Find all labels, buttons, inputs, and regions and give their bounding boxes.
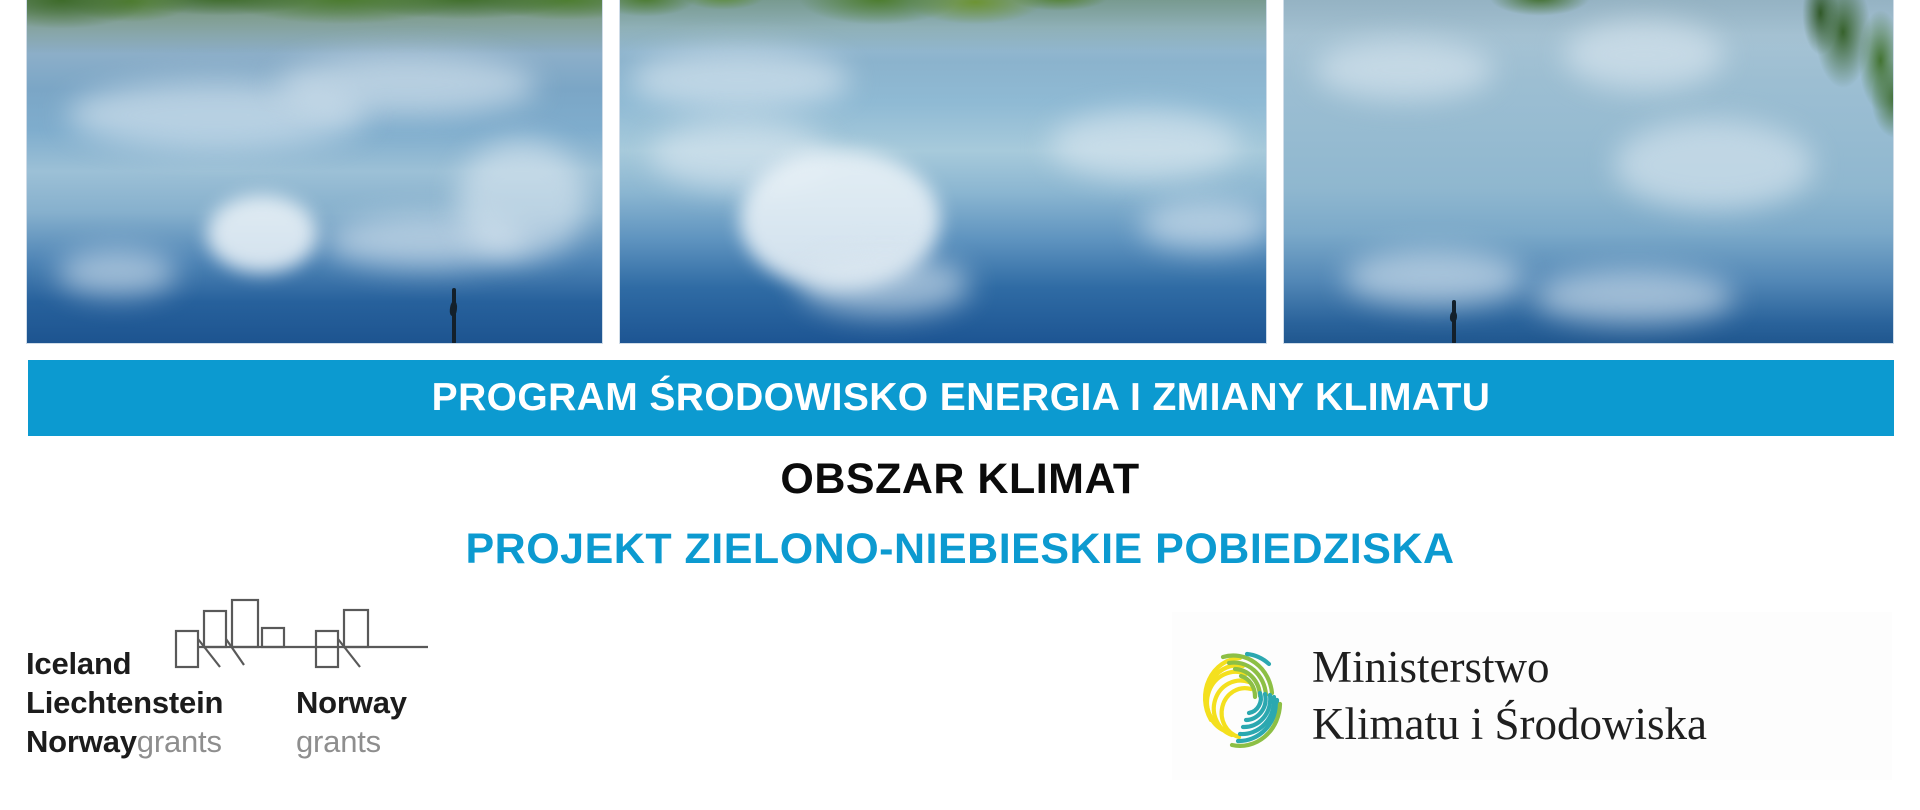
cloud-reflection — [1534, 270, 1734, 324]
grants-line-liechtenstein: Liechtenstein — [26, 683, 326, 722]
grass-reflection — [620, 0, 1265, 52]
norway-grants-grants-text: grants — [296, 724, 381, 759]
cloud-reflection — [1314, 40, 1494, 100]
grants-grants-text: grants — [137, 724, 222, 759]
program-banner: PROGRAM ŚRODOWISKO ENERGIA I ZMIANY KLIM… — [28, 360, 1894, 436]
cloud-reflection — [800, 255, 970, 315]
norway-grants-wordblock: Norway grants — [296, 683, 516, 761]
ministry-wordmark: Ministerstwo Klimatu i Środowiska — [1312, 639, 1707, 753]
norway-grants-line-grants: grants — [296, 722, 516, 761]
poster-page: PROGRAM ŚRODOWISKO ENERGIA I ZMIANY KLIM… — [0, 0, 1920, 810]
grass-reflection — [27, 0, 602, 54]
cloud-reflection — [630, 48, 850, 112]
ministry-spiral-icon — [1194, 638, 1290, 754]
cloud-reflection — [207, 195, 317, 273]
cloud-reflection — [277, 55, 537, 115]
footer-logos: Iceland Liechtenstein Norwaygrants Norwa… — [0, 590, 1920, 810]
grants-iceland-text: Iceland — [26, 646, 131, 681]
cloud-reflection — [457, 140, 587, 260]
ministerstwo-klimatu-i-srodowiska-logo: Ministerstwo Klimatu i Środowiska — [1172, 612, 1892, 780]
photo-pond-middle — [619, 0, 1266, 344]
cloud-reflection — [1614, 120, 1814, 210]
iceland-liechtenstein-norway-grants-logo: Iceland Liechtenstein Norwaygrants Norwa… — [26, 598, 526, 798]
cloud-reflection — [57, 250, 177, 296]
norway-grants-norway-text: Norway — [296, 685, 407, 720]
cloud-reflection — [1344, 250, 1524, 306]
grants-line-norway: Norwaygrants — [26, 722, 326, 761]
grants-liechtenstein-text: Liechtenstein — [26, 685, 223, 720]
project-title: PROJEKT ZIELONO-NIEBIESKIE POBIEDZISKA — [0, 518, 1920, 580]
grants-wordblock: Iceland Liechtenstein Norwaygrants — [26, 644, 326, 761]
area-title: OBSZAR KLIMAT — [0, 450, 1920, 508]
reed-silhouette — [452, 288, 456, 344]
cloud-reflection — [1140, 200, 1266, 250]
photo-pond-right — [1283, 0, 1894, 344]
grants-norway-text: Norway — [26, 724, 137, 759]
grants-line-iceland: Iceland — [26, 644, 326, 683]
cloud-reflection — [1050, 110, 1240, 180]
photo-strip — [26, 0, 1894, 344]
ministry-line-2: Klimatu i Środowiska — [1312, 696, 1707, 753]
ministry-line-1: Ministerstwo — [1312, 639, 1707, 696]
photo-pond-left — [26, 0, 603, 344]
cloud-reflection — [1564, 20, 1724, 90]
norway-grants-line-norway: Norway — [296, 683, 516, 722]
reed-silhouette — [1452, 300, 1456, 344]
heading-area: OBSZAR KLIMAT PROJEKT ZIELONO-NIEBIESKIE… — [0, 450, 1920, 580]
program-banner-text: PROGRAM ŚRODOWISKO ENERGIA I ZMIANY KLIM… — [432, 376, 1491, 420]
